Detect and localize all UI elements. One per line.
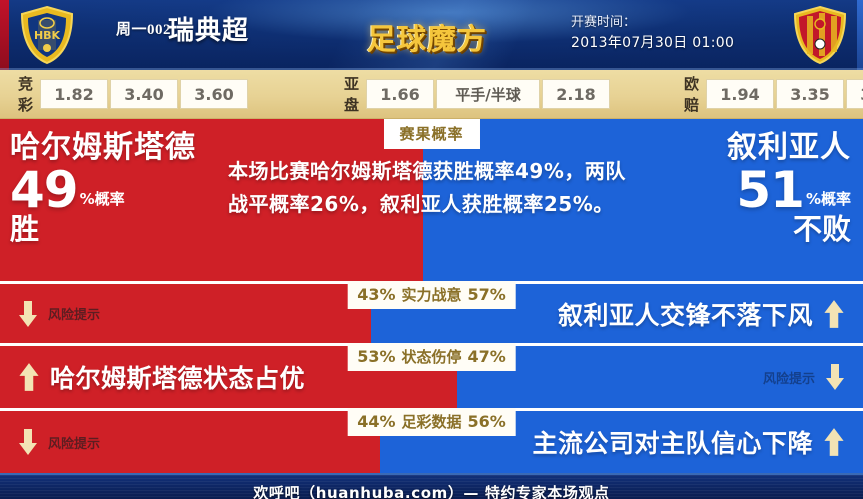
odds-cell[interactable]: 1.82 xyxy=(40,79,108,109)
kickoff-time: 2013年07月30日 01:00 xyxy=(571,33,771,54)
probability-panel: 赛果概率 哈尔姆斯塔德 49 %概率 胜 本场比赛哈尔姆斯塔德获胜概率49%，两… xyxy=(0,119,863,281)
arrow-down-icon xyxy=(18,299,38,329)
away-probability-suffix: %概率 xyxy=(806,192,851,213)
odds-group-label: 亚盘 xyxy=(344,73,359,115)
home-probability-suffix: %概率 xyxy=(80,192,125,213)
odds-bar: 竞彩 1.82 3.40 3.60 亚盘 1.66 平手/半球 2.18 欧赔 … xyxy=(0,70,863,119)
footer: 欢呼吧（huanhuba.com）— 特约专家本场观点 xyxy=(0,473,863,499)
comparison-row: 43% 实力战意 57% 风险提示 叙利亚人交锋不落下风 xyxy=(0,281,863,343)
header-right-accent-bar xyxy=(857,0,863,70)
probability-section-tag: 赛果概率 xyxy=(383,119,479,149)
row-right-percent: 47% xyxy=(468,347,506,366)
row-metric-tag: 53% 状态伤停 47% xyxy=(347,343,516,371)
row-metric-name: 足彩数据 xyxy=(401,411,461,432)
away-outcome-word: 不败 xyxy=(727,215,851,244)
row-left-message-text: 哈尔姆斯塔德状态占优 xyxy=(50,359,305,395)
row-right-message: 叙利亚人交锋不落下风 xyxy=(558,284,845,343)
odds-cell[interactable]: 3.35 xyxy=(776,79,844,109)
row-left-message: 哈尔姆斯塔德状态占优 xyxy=(18,346,305,408)
arrow-up-icon xyxy=(823,298,845,330)
infographic-root: HBK 周一002 瑞典超 足球魔方 开赛时间： 2013年07月30日 01:… xyxy=(0,0,863,499)
odds-cell[interactable]: 1.94 xyxy=(706,79,774,109)
comparison-rows: 43% 实力战意 57% 风险提示 叙利亚人交锋不落下风 5 xyxy=(0,281,863,473)
comparison-row: 53% 状态伤停 47% 哈尔姆斯塔德状态占优 风险提示 xyxy=(0,343,863,408)
row-left-message: 风险提示 xyxy=(18,411,100,473)
row-metric-name: 状态伤停 xyxy=(401,346,461,367)
away-team-name: 叙利亚人 xyxy=(727,133,851,163)
svg-text:HBK: HBK xyxy=(34,29,61,42)
home-outcome-word: 胜 xyxy=(10,215,196,244)
row-right-message: 风险提示 xyxy=(763,346,845,408)
comparison-row: 44% 足彩数据 56% 风险提示 主流公司对主队信心下降 xyxy=(0,408,863,473)
kickoff-info: 开赛时间： 2013年07月30日 01:00 xyxy=(571,12,771,54)
arrow-down-icon xyxy=(18,427,38,457)
odds-cell[interactable]: 3.66 xyxy=(846,79,863,109)
row-metric-tag: 43% 实力战意 57% xyxy=(347,281,516,309)
home-team-name: 哈尔姆斯塔德 xyxy=(10,133,196,163)
kickoff-label: 开赛时间： xyxy=(571,12,771,33)
row-left-message-text: 风险提示 xyxy=(48,304,100,323)
row-left-percent: 43% xyxy=(357,285,395,304)
row-right-message-text: 主流公司对主队信心下降 xyxy=(532,424,813,460)
row-right-message-text: 叙利亚人交锋不落下风 xyxy=(558,296,813,332)
row-right-percent: 56% xyxy=(468,412,506,431)
footer-text: 欢呼吧（huanhuba.com）— 特约专家本场观点 xyxy=(253,482,609,499)
away-probability-block: 叙利亚人 51 %概率 不败 xyxy=(727,133,851,244)
brand-logo-text: 足球魔方 xyxy=(352,16,502,58)
odds-group-oupei: 欧赔 1.94 3.35 3.66 xyxy=(684,73,863,115)
header: HBK 周一002 瑞典超 足球魔方 开赛时间： 2013年07月30日 01:… xyxy=(0,0,863,70)
row-metric-tag: 44% 足彩数据 56% xyxy=(347,408,516,436)
arrow-down-icon xyxy=(825,362,845,392)
odds-group-yapan: 亚盘 1.66 平手/半球 2.18 xyxy=(344,73,612,115)
row-left-percent: 44% xyxy=(357,412,395,431)
row-right-message-text: 风险提示 xyxy=(763,368,815,387)
away-team-crest-icon xyxy=(789,4,851,66)
odds-cell[interactable]: 2.18 xyxy=(542,79,610,109)
header-left-accent-bar xyxy=(0,0,9,70)
home-probability-value: 49 xyxy=(10,167,78,213)
row-left-message: 风险提示 xyxy=(18,284,100,343)
odds-cell-handicap[interactable]: 平手/半球 xyxy=(436,79,540,109)
home-team-crest-icon: HBK xyxy=(16,4,78,66)
row-left-message-text: 风险提示 xyxy=(48,433,100,452)
match-number: 周一002 xyxy=(116,18,171,39)
row-metric-name: 实力战意 xyxy=(401,284,461,305)
odds-cell[interactable]: 3.40 xyxy=(110,79,178,109)
odds-group-label: 欧赔 xyxy=(684,73,699,115)
row-right-message: 主流公司对主队信心下降 xyxy=(532,411,845,473)
brand-logo: 足球魔方 xyxy=(352,2,502,68)
match-summary-text: 本场比赛哈尔姆斯塔德获胜概率49%，两队战平概率26%，叙利亚人获胜概率25%。 xyxy=(228,155,628,221)
odds-cell[interactable]: 3.60 xyxy=(180,79,248,109)
arrow-up-icon xyxy=(823,426,845,458)
row-left-percent: 53% xyxy=(357,347,395,366)
league-name: 瑞典超 xyxy=(168,10,249,47)
arrow-up-icon xyxy=(18,361,40,393)
home-probability-block: 哈尔姆斯塔德 49 %概率 胜 xyxy=(10,133,196,244)
odds-group-label: 竞彩 xyxy=(18,73,33,115)
odds-cell[interactable]: 1.66 xyxy=(366,79,434,109)
odds-group-jingcai: 竞彩 1.82 3.40 3.60 xyxy=(18,73,250,115)
row-right-percent: 57% xyxy=(468,285,506,304)
away-probability-value: 51 xyxy=(736,167,804,213)
